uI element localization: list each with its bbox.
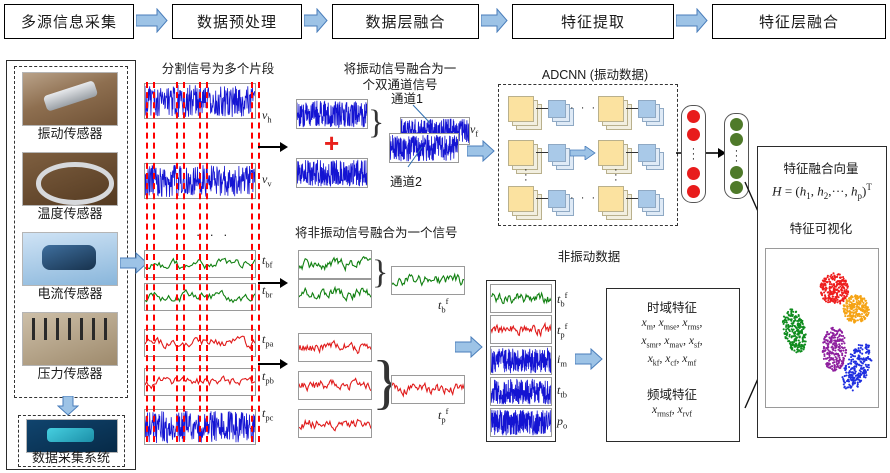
stage-label: 特征层融合	[759, 11, 839, 32]
stage-box-1[interactable]: 数据预处理	[172, 4, 302, 39]
adcnn-vertical-dots: ···	[524, 168, 528, 183]
cnn-pool-map	[548, 144, 572, 168]
vibration-fusion-title-line1: 将振动信号融合为一	[320, 62, 480, 78]
nonvib-signal-0	[490, 284, 552, 313]
stage-label: 特征提取	[561, 11, 625, 32]
sensor-label-0: 振动传感器	[14, 126, 126, 142]
neuron	[687, 185, 700, 198]
temp-fused-signal	[391, 266, 465, 295]
vib-input-signal-h	[296, 99, 368, 129]
freq-domain-title: 频域特征	[606, 384, 738, 403]
segment-marker-1	[176, 82, 178, 442]
segment-marker-b-1	[183, 82, 185, 442]
feature-visualization-title: 特征可视化	[757, 218, 885, 237]
neuron-dots: ···	[735, 149, 739, 164]
nonvib-signal-4	[490, 408, 552, 437]
fusion-vector-equation: H = (h1, h2,···, hp)T	[763, 182, 881, 201]
vib-input-signal-v	[296, 158, 368, 188]
cnn-pool-map	[548, 190, 572, 214]
arrow-nonvib-to-stack	[455, 336, 483, 358]
nonvib-signal-label-3: ttb	[557, 383, 567, 399]
feature-visualization-plot	[765, 248, 879, 408]
neuron	[687, 128, 700, 141]
arrow-stack-to-features	[575, 348, 603, 370]
cnn-link	[536, 108, 548, 109]
cnn-link	[536, 198, 548, 199]
arrow-vib-to-adcnn	[467, 140, 495, 162]
nonvib-signal-label-4: po	[557, 414, 567, 430]
nonvib-signal-1	[490, 315, 552, 344]
merge-brace-temperature: }	[372, 254, 388, 292]
neuron	[687, 110, 700, 123]
adcnn-title: ADCNN (振动数据)	[500, 64, 690, 83]
adcnn-dots: · · ·	[570, 192, 597, 204]
press-input-signal-2	[298, 371, 372, 400]
neuron	[730, 118, 743, 131]
arrow-sensors-to-daq	[57, 396, 79, 416]
cnn-conv-map	[598, 186, 630, 218]
stage-label: 数据层融合	[365, 11, 445, 32]
nonvib-signal-3	[490, 377, 552, 406]
time-feature-line-2: xkf, xcf, xmf	[606, 353, 738, 367]
vibration-sensor-photo	[22, 72, 118, 126]
segment-marker-b-0	[153, 82, 155, 442]
segment-marker-b-3	[258, 82, 260, 442]
nonvibration-fusion-title: 将非振动信号融合为一个信号	[295, 222, 458, 241]
stage-arrow-2	[481, 8, 508, 33]
segment-marker-b-2	[206, 82, 208, 442]
adcnn-footer-label: 非振动数据	[500, 246, 678, 265]
arrow-red-to-green-neurons	[706, 147, 726, 159]
plus-sign: +	[324, 130, 339, 156]
time-feature-line-0: xm, xmse, xrms,	[606, 317, 738, 331]
segment-signal-label-4: tpa	[262, 332, 273, 348]
daq-system-photo	[26, 419, 118, 453]
nonvib-signal-2	[490, 346, 552, 375]
neuron-column-red: ···	[681, 105, 706, 203]
stage-label: 多源信息采集	[21, 11, 117, 32]
neuron	[687, 167, 700, 180]
fusion-vector-title: 特征融合向量	[757, 158, 885, 177]
press-fused-signal	[391, 375, 465, 404]
segment-signal-label-2: tbf	[262, 253, 272, 269]
temp-input-signal-2	[298, 279, 372, 308]
stage-label: 数据预处理	[197, 11, 277, 32]
arrow-vib-segments-out	[258, 141, 288, 153]
arrow-press-segments-out	[258, 358, 288, 370]
press-input-signal-1	[298, 333, 372, 362]
time-feature-line-1: xsmr, xmav, xsf,	[606, 335, 738, 349]
freq-feature-line-0: xrmsf, xrvf	[606, 404, 738, 418]
time-domain-title: 时域特征	[606, 297, 738, 316]
sensor-label-1: 温度传感器	[14, 206, 126, 222]
scatter-cluster-svg	[766, 249, 878, 407]
adcnn-inner-arrow	[570, 146, 596, 160]
sensor-label-2: 电流传感器	[14, 286, 126, 302]
segment-marker-3	[251, 82, 253, 442]
temperature-sensor-photo	[22, 152, 118, 206]
nonvib-signal-label-1: tpf	[557, 321, 567, 339]
cnn-pool-map	[638, 190, 662, 214]
arrow-temp-segments-out	[258, 277, 288, 289]
temp-input-signal-1	[298, 250, 372, 279]
segment-signal-label-5: tpb	[262, 369, 274, 385]
cnn-link	[536, 152, 548, 153]
segmentation-ellipsis: · · ·	[196, 228, 230, 242]
cnn-conv-map	[598, 96, 630, 128]
cnn-conv-map	[508, 96, 540, 128]
segment-signal-label-0: vh	[262, 108, 272, 124]
stage-box-4[interactable]: 特征层融合	[712, 4, 886, 39]
stage-box-0[interactable]: 多源信息采集	[4, 4, 134, 39]
cnn-pool-map	[638, 100, 662, 124]
segment-marker-0	[146, 82, 148, 442]
vib-fused-label: vf	[470, 122, 478, 138]
channel-leader-lines	[380, 95, 470, 185]
adcnn-dots: · · ·	[570, 102, 597, 114]
current-sensor-photo	[22, 232, 118, 286]
stage-arrow-0	[136, 8, 168, 33]
adcnn-vertical-dots: ···	[614, 168, 618, 183]
daq-label: 数据采集系统	[16, 450, 126, 466]
press-input-signal-3	[298, 409, 372, 438]
cnn-link	[626, 198, 638, 199]
segment-marker-2	[199, 82, 201, 442]
press-fused-label: tpf	[438, 406, 448, 424]
pressure-sensor-photo	[22, 312, 118, 366]
cnn-pool-map	[638, 144, 662, 168]
cnn-link	[626, 152, 638, 153]
nonvib-signal-label-2: im	[557, 352, 567, 368]
cnn-conv-map	[508, 186, 540, 218]
cnn-link	[626, 108, 638, 109]
temp-fused-label: tbf	[438, 296, 448, 314]
segment-signal-label-1: vv	[262, 172, 272, 188]
stage-arrow-3	[676, 8, 708, 33]
segmentation-title: 分割信号为多个片段	[138, 62, 298, 78]
stage-arrow-1	[304, 8, 328, 33]
stage-box-2[interactable]: 数据层融合	[332, 4, 479, 39]
cnn-pool-map	[548, 100, 572, 124]
sensor-label-3: 压力传感器	[14, 366, 126, 382]
segment-signal-label-6: tpc	[262, 406, 273, 422]
nonvib-signal-label-0: tbf	[557, 290, 567, 308]
stage-box-3[interactable]: 特征提取	[512, 4, 674, 39]
neuron-dots: ···	[692, 147, 696, 162]
